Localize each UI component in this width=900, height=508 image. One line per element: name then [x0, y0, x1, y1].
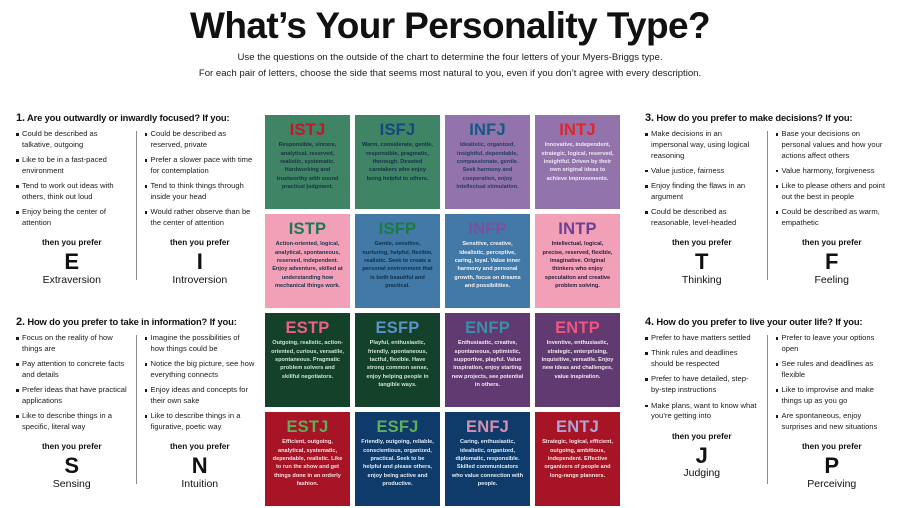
type-description: Intellectual, logical, precise, reserved… [540, 240, 615, 290]
question-2-text: How do you prefer to take in information… [27, 316, 236, 327]
question-3-right-bullets: Base your decisions on personal values a… [776, 129, 889, 233]
then-you-prefer-label: then you prefer [645, 238, 759, 247]
preference-letter-i: I [145, 249, 256, 274]
question-3-heading: 3. How do you prefer to make decisions? … [645, 112, 888, 124]
list-item: Notice the big picture, see how everythi… [145, 359, 256, 381]
question-3-left-bullets: Make decisions in an impersonal way, usi… [645, 129, 759, 233]
list-item: Tend to work out ideas with others, thin… [16, 181, 128, 203]
list-item: Like to be in a fast-paced environment [16, 155, 128, 177]
type-description: Idealistic, organized, insightful, depen… [450, 141, 525, 191]
type-description: Inventive, enthusiastic, strategic, ente… [540, 339, 615, 380]
type-description: Strategic, logical, efficient, outgoing,… [540, 438, 615, 479]
list-item: Make decisions in an impersonal way, usi… [645, 129, 759, 161]
preference-letter-e: E [16, 249, 128, 274]
question-3-number: 3. [645, 112, 654, 124]
list-item: Enjoy ideas and concepts for their own s… [145, 385, 256, 407]
preference-name-introversion: Introversion [145, 275, 256, 287]
type-code: ISTJ [290, 121, 326, 139]
question-4-number: 4. [645, 316, 654, 328]
list-item: Could be described as reasonable, level-… [645, 207, 759, 229]
right-question-column: 3. How do you prefer to make decisions? … [635, 112, 900, 490]
type-code: INTP [558, 220, 596, 238]
then-you-prefer-label: then you prefer [776, 238, 889, 247]
list-item: Tend to think things through inside your… [145, 181, 256, 203]
preference-letter-j: J [645, 443, 759, 468]
then-you-prefer-label: then you prefer [776, 442, 889, 451]
question-1-right-option: Could be described as reserved, private … [136, 129, 256, 286]
type-card-isfj[interactable]: ISFJ Warm, considerate, gentle, responsi… [355, 115, 440, 209]
preference-name-extraversion: Extraversion [16, 275, 128, 287]
list-item: Base your decisions on personal values a… [776, 129, 889, 161]
type-card-istp[interactable]: ISTP Action-oriented, logical, analytica… [265, 214, 350, 308]
list-item: Like to describe things in a specific, l… [16, 411, 128, 433]
question-2-right-option: Imagine the possibilities of how things … [136, 333, 256, 490]
list-item: Enjoy being the center of attention [16, 207, 128, 229]
type-description: Outgoing, realistic, action-oriented, cu… [270, 339, 345, 380]
type-description: Playful, enthusiastic, friendly, spontan… [360, 339, 435, 389]
left-question-column: 1. Are you outwardly or inwardly focused… [0, 112, 265, 490]
question-2-right-bullets: Imagine the possibilities of how things … [145, 333, 256, 437]
question-block-1: 1. Are you outwardly or inwardly focused… [16, 112, 255, 286]
question-4-text: How do you prefer to live your outer lif… [656, 316, 862, 327]
type-description: Enthusiastic, creative, spontaneous, opt… [450, 339, 525, 389]
type-description: Action-oriented, logical, analytical, sp… [270, 240, 345, 290]
question-2-left-option: Focus on the reality of how things are P… [16, 333, 136, 490]
personality-type-grid: ISTJ Responsible, sincere, analytical, r… [265, 112, 635, 506]
type-description: Gentle, sensitive, nurturing, helpful, f… [360, 240, 435, 290]
type-card-infp[interactable]: INFP Sensitive, creative, idealistic, pe… [445, 214, 530, 308]
list-item: Value harmony, forgiveness [776, 166, 889, 177]
question-block-3: 3. How do you prefer to make decisions? … [645, 112, 888, 286]
type-description: Innovative, independent, strategic, logi… [540, 141, 615, 182]
list-item: Imagine the possibilities of how things … [145, 333, 256, 355]
then-you-prefer-label: then you prefer [145, 238, 256, 247]
preference-letter-s: S [16, 453, 128, 478]
preference-name-sensing: Sensing [16, 479, 128, 491]
question-2-heading: 2. How do you prefer to take in informat… [16, 316, 255, 328]
question-1-left-bullets: Could be described as talkative, outgoin… [16, 129, 128, 233]
preference-letter-n: N [145, 453, 256, 478]
type-card-istj[interactable]: ISTJ Responsible, sincere, analytical, r… [265, 115, 350, 209]
list-item: Prefer to leave your options open [776, 333, 889, 355]
type-code: INTJ [559, 121, 596, 139]
preference-letter-p: P [776, 453, 889, 478]
then-you-prefer-label: then you prefer [16, 442, 128, 451]
type-card-esfp[interactable]: ESFP Playful, enthusiastic, friendly, sp… [355, 313, 440, 407]
then-you-prefer-label: then you prefer [16, 238, 128, 247]
type-code: ISFJ [380, 121, 416, 139]
type-description: Friendly, outgoing, reliable, conscienti… [360, 438, 435, 488]
list-item: Pay attention to concrete facts and deta… [16, 359, 128, 381]
type-code: INFJ [469, 121, 506, 139]
question-4-left-bullets: Prefer to have matters settled Think rul… [645, 333, 759, 426]
type-card-entj[interactable]: ENTJ Strategic, logical, efficient, outg… [535, 412, 620, 506]
question-1-text: Are you outwardly or inwardly focused? I… [27, 112, 230, 123]
question-1-heading: 1. Are you outwardly or inwardly focused… [16, 112, 255, 124]
list-item: See rules and deadlines as flexible [776, 359, 889, 381]
type-code: ISFP [379, 220, 416, 238]
type-card-intj[interactable]: INTJ Innovative, independent, strategic,… [535, 115, 620, 209]
list-item: Think rules and deadlines should be resp… [645, 348, 759, 370]
type-code: ESTP [286, 319, 330, 337]
type-card-grid: ISTJ Responsible, sincere, analytical, r… [265, 115, 635, 506]
type-card-estj[interactable]: ESTJ Efficient, outgoing, analytical, sy… [265, 412, 350, 506]
preference-letter-f: F [776, 249, 889, 274]
type-code: ENFP [465, 319, 510, 337]
list-item: Make plans, want to know what you’re get… [645, 401, 759, 423]
type-code: ENTP [555, 319, 600, 337]
subtitle-line-2: For each pair of letters, choose the sid… [0, 67, 900, 82]
type-code: ESFP [376, 319, 420, 337]
list-item: Would rather observe than be the center … [145, 207, 256, 229]
subtitle-line-1: Use the questions on the outside of the … [0, 51, 900, 66]
list-item: Enjoy finding the flaws in an argument [645, 181, 759, 203]
type-card-esfj[interactable]: ESFJ Friendly, outgoing, reliable, consc… [355, 412, 440, 506]
type-description: Warm, considerate, gentle, responsible, … [360, 141, 435, 182]
chart-header: What’s Your Personality Type? Use the qu… [0, 0, 900, 81]
question-2-left-bullets: Focus on the reality of how things are P… [16, 333, 128, 437]
list-item: Are spontaneous, enjoy surprises and new… [776, 411, 889, 433]
question-2-number: 2. [16, 316, 25, 328]
question-3-text: How do you prefer to make decisions? If … [656, 112, 852, 123]
type-code: ESTJ [286, 418, 328, 436]
list-item: Focus on the reality of how things are [16, 333, 128, 355]
preference-name-intuition: Intuition [145, 479, 256, 491]
question-4-heading: 4. How do you prefer to live your outer … [645, 316, 888, 328]
type-card-enfj[interactable]: ENFJ Caring, enthusiastic, idealistic, o… [445, 412, 530, 506]
list-item: Prefer to have matters settled [645, 333, 759, 344]
preference-name-feeling: Feeling [776, 275, 889, 287]
question-block-2: 2. How do you prefer to take in informat… [16, 316, 255, 490]
preference-name-thinking: Thinking [645, 275, 759, 287]
list-item: Could be described as talkative, outgoin… [16, 129, 128, 151]
preference-name-perceiving: Perceiving [776, 479, 889, 491]
list-item: Value justice, fairness [645, 166, 759, 177]
then-you-prefer-label: then you prefer [145, 442, 256, 451]
question-1-left-option: Could be described as talkative, outgoin… [16, 129, 136, 286]
type-description: Efficient, outgoing, analytical, systema… [270, 438, 345, 488]
page-title: What’s Your Personality Type? [0, 6, 900, 45]
list-item: Could be described as reserved, private [145, 129, 256, 151]
preference-letter-t: T [645, 249, 759, 274]
question-4-right-bullets: Prefer to leave your options open See ru… [776, 333, 889, 437]
question-1-number: 1. [16, 112, 25, 124]
type-description: Responsible, sincere, analytical, reserv… [270, 141, 345, 191]
question-4-left-option: Prefer to have matters settled Think rul… [645, 333, 767, 490]
type-code: ISTP [289, 220, 326, 238]
chart-body: 1. Are you outwardly or inwardly focused… [0, 112, 900, 508]
preference-name-judging: Judging [645, 468, 759, 480]
list-item: Prefer ideas that have practical applica… [16, 385, 128, 407]
type-card-isfp[interactable]: ISFP Gentle, sensitive, nurturing, helpf… [355, 214, 440, 308]
type-card-intp[interactable]: INTP Intellectual, logical, precise, res… [535, 214, 620, 308]
type-description: Sensitive, creative, idealistic, percept… [450, 240, 525, 290]
list-item: Like to improvise and make things up as … [776, 385, 889, 407]
type-code: ESFJ [376, 418, 418, 436]
type-description: Caring, enthusiastic, idealistic, organi… [450, 438, 525, 488]
list-item: Like to please others and point out the … [776, 181, 889, 203]
type-code: ENTJ [556, 418, 599, 436]
question-3-right-option: Base your decisions on personal values a… [767, 129, 889, 286]
type-card-infj[interactable]: INFJ Idealistic, organized, insightful, … [445, 115, 530, 209]
personality-type-chart: What’s Your Personality Type? Use the qu… [0, 0, 900, 508]
type-card-estp[interactable]: ESTP Outgoing, realistic, action-oriente… [265, 313, 350, 407]
list-item: Like to describe things in a figurative,… [145, 411, 256, 433]
type-code: INFP [468, 220, 506, 238]
question-block-4: 4. How do you prefer to live your outer … [645, 316, 888, 490]
question-3-left-option: Make decisions in an impersonal way, usi… [645, 129, 767, 286]
list-item: Prefer to have detailed, step-by-step in… [645, 374, 759, 396]
list-item: Prefer a slower pace with time for conte… [145, 155, 256, 177]
type-card-entp[interactable]: ENTP Inventive, enthusiastic, strategic,… [535, 313, 620, 407]
list-item: Could be described as warm, empathetic [776, 207, 889, 229]
type-card-enfp[interactable]: ENFP Enthusiastic, creative, spontaneous… [445, 313, 530, 407]
then-you-prefer-label: then you prefer [645, 432, 759, 441]
question-4-right-option: Prefer to leave your options open See ru… [767, 333, 889, 490]
question-1-right-bullets: Could be described as reserved, private … [145, 129, 256, 233]
type-code: ENFJ [466, 418, 509, 436]
